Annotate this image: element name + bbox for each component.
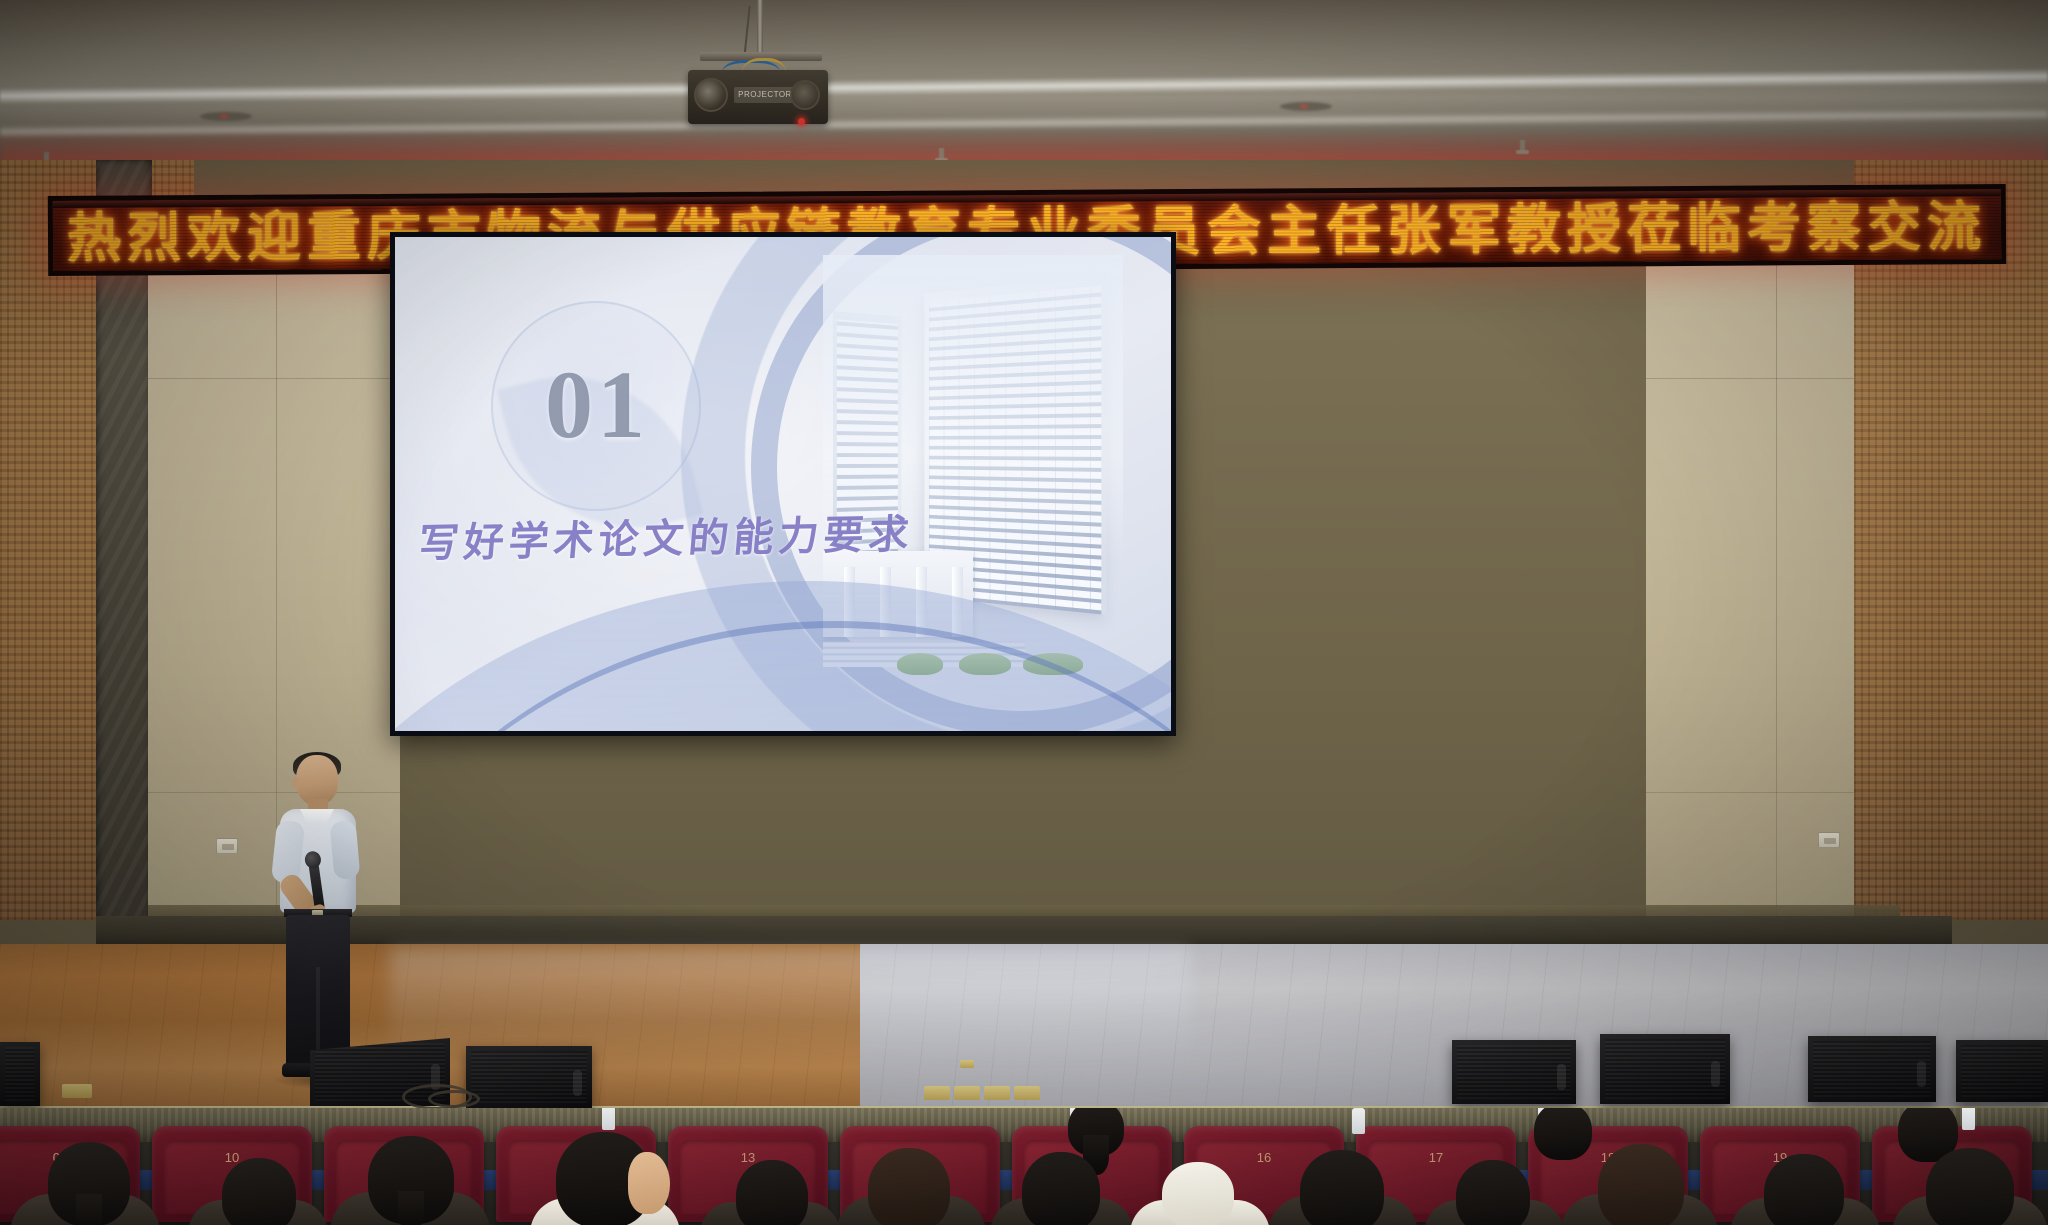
audience-seating-area: 09 10 11 12 13 14 15 16 17 18 19 20 (0, 1108, 2048, 1225)
wall-socket-left[interactable] (216, 838, 238, 854)
marble-column-left (96, 160, 152, 940)
projector-fan-icon (790, 80, 820, 110)
seat-number: 13 (668, 1150, 828, 1165)
audience-head-f12 (1764, 1154, 1844, 1225)
audience-head-f13 (1926, 1148, 2014, 1225)
gaffer-tape-1 (62, 1084, 92, 1098)
projector-brand-label: PROJECTOR (734, 87, 796, 103)
presenter-figure (270, 755, 366, 1085)
projector-lens-icon (694, 78, 728, 112)
slide-section-number: 01 (545, 349, 649, 460)
audience-head-cap (1162, 1162, 1234, 1225)
audience-head-f3 (368, 1136, 454, 1224)
gaffer-tape-3 (954, 1086, 980, 1100)
stage-monitor-2 (466, 1046, 592, 1108)
audience-head-f7 (1022, 1152, 1100, 1225)
audience-head-f9 (1300, 1150, 1384, 1225)
presenter-ear (292, 777, 299, 789)
wood-acoustic-panel-right (1854, 160, 1950, 920)
stage-monitor-3 (1452, 1040, 1576, 1104)
gaffer-tape-5 (1014, 1086, 1040, 1100)
wall-baseboard (96, 916, 1952, 946)
ceiling-projector[interactable]: PROJECTOR (688, 70, 828, 124)
audience-head-f5 (736, 1160, 808, 1225)
ceiling-vent-left (200, 112, 252, 121)
projection-screen-frame: 01 写好学术论文的能力要求 (390, 232, 1176, 736)
stage-monitor-5 (1808, 1036, 1936, 1102)
audience-head-f10 (1456, 1160, 1530, 1225)
audience-head-f2 (222, 1158, 296, 1225)
projector-status-led (798, 118, 805, 125)
gaffer-tape-2 (924, 1086, 950, 1100)
audience-head-f11 (1598, 1144, 1684, 1225)
gaffer-tape-6 (960, 1060, 974, 1068)
audience-head-f1 (48, 1142, 130, 1225)
ceiling-vent-right (1280, 102, 1332, 111)
slide-title: 写好学术论文的能力要求 (417, 503, 852, 569)
seat-number: 10 (152, 1150, 312, 1165)
audience-head-f6 (868, 1148, 950, 1225)
water-bottle-4[interactable] (1962, 1108, 1975, 1130)
projector-mount-pole (757, 0, 763, 56)
projector-cable-yellow (742, 58, 786, 72)
stage-monitor-6 (1956, 1040, 2048, 1102)
audience-head-b2 (1534, 1108, 1592, 1160)
water-bottle-1[interactable] (602, 1108, 615, 1130)
presenter-right-arm (330, 820, 361, 880)
sprinkler-right (1520, 140, 1525, 154)
wood-acoustic-panel-far-right (1950, 160, 2048, 920)
presenter-head (296, 755, 338, 805)
auditorium-scene: PROJECTOR 热烈欢迎重庆市物流与供应链教育专业委员会主任张军教授莅临考察… (0, 0, 2048, 1225)
floor-cable-coil-2 (428, 1090, 480, 1108)
gaffer-tape-4 (984, 1086, 1010, 1100)
water-bottle-5[interactable] (1352, 1108, 1365, 1134)
wall-socket-right[interactable] (1818, 832, 1840, 848)
stage-monitor-4 (1600, 1034, 1730, 1104)
stage-monitor-edge-left (0, 1042, 40, 1106)
audience-head-b1 (1068, 1108, 1124, 1156)
audience-face-f4 (628, 1152, 670, 1214)
projection-screen: 01 写好学术论文的能力要求 (395, 237, 1171, 731)
